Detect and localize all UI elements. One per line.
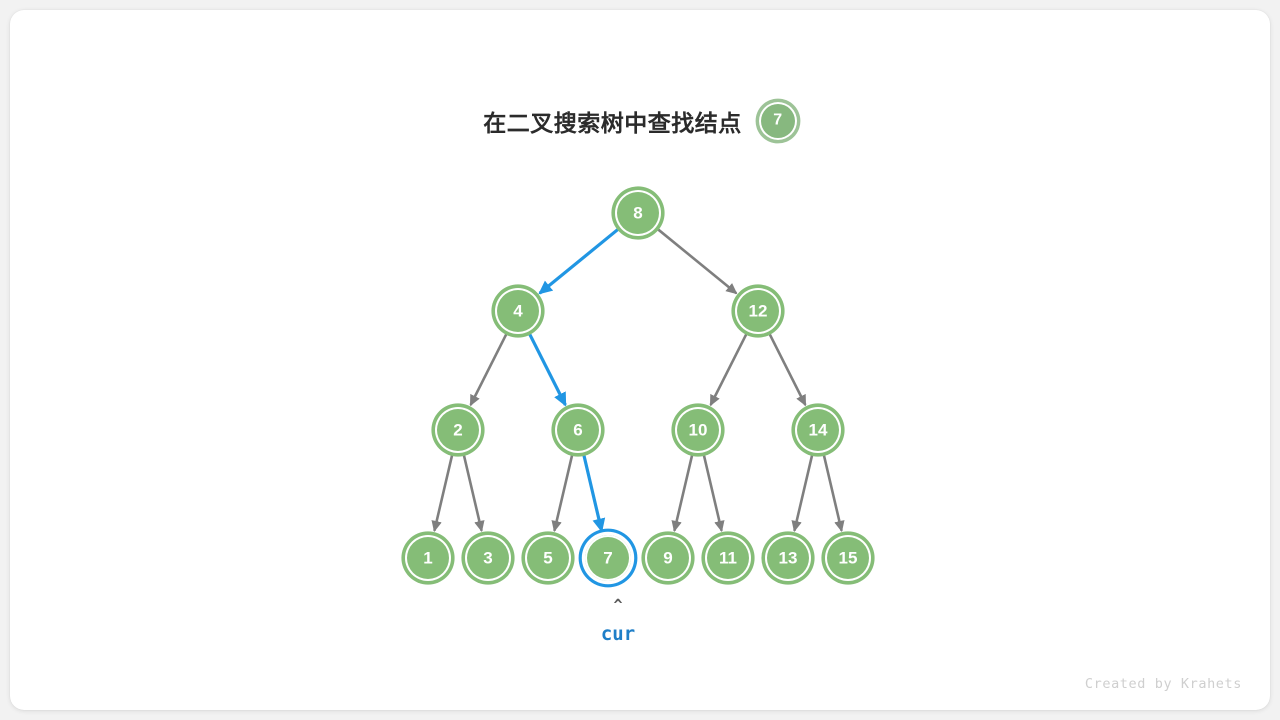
tree-node-2[interactable]: 2	[435, 407, 481, 453]
tree-node-label: 11	[719, 549, 737, 566]
tree-node-label: 10	[689, 421, 708, 438]
tree-node-3[interactable]: 3	[465, 535, 511, 581]
tree-node-label: 5	[543, 549, 552, 566]
tree-edge	[824, 454, 842, 530]
tree-node-13[interactable]: 13	[765, 535, 811, 581]
tree-edge	[704, 454, 722, 530]
tree-edge	[434, 454, 452, 530]
tree-node-5[interactable]: 5	[525, 535, 571, 581]
tree-edge	[769, 333, 805, 405]
tree-node-10[interactable]: 10	[675, 407, 721, 453]
tree-node-label: 12	[749, 302, 768, 319]
tree-node-label: 2	[453, 421, 462, 438]
cur-pointer-label: cur	[573, 625, 663, 644]
tree-edge-layer	[10, 10, 1270, 710]
tree-node-label: 7	[603, 549, 612, 566]
tree-node-label: 3	[483, 549, 492, 566]
tree-node-label: 13	[779, 549, 798, 566]
tree-node-label: 8	[633, 204, 642, 221]
tree-node-15[interactable]: 15	[825, 535, 871, 581]
tree-node-9[interactable]: 9	[645, 535, 691, 581]
tree-node-label: 14	[809, 421, 828, 438]
tree-edge	[464, 454, 482, 530]
tree-node-7[interactable]: 7	[585, 535, 631, 581]
tree-edge	[711, 333, 747, 405]
diagram-stage: 在二叉搜索树中查找结点 7 841226101413579111315 ^ cu…	[10, 10, 1270, 710]
tree-edge	[584, 454, 602, 530]
tree-edge	[529, 333, 565, 405]
tree-edge	[540, 229, 619, 293]
tree-edge	[471, 333, 507, 405]
tree-node-1[interactable]: 1	[405, 535, 451, 581]
tree-node-label: 1	[423, 549, 432, 566]
tree-node-4[interactable]: 4	[495, 288, 541, 334]
tree-edge	[794, 454, 812, 530]
tree-edge	[674, 454, 692, 530]
slide-card: 在二叉搜索树中查找结点 7 841226101413579111315 ^ cu…	[10, 10, 1270, 710]
tree-node-14[interactable]: 14	[795, 407, 841, 453]
tree-node-6[interactable]: 6	[555, 407, 601, 453]
cur-caret-icon: ^	[598, 598, 638, 613]
tree-node-11[interactable]: 11	[705, 535, 751, 581]
tree-edge	[657, 229, 736, 293]
tree-edge	[554, 454, 572, 530]
tree-node-12[interactable]: 12	[735, 288, 781, 334]
tree-node-label: 6	[573, 421, 582, 438]
tree-node-8[interactable]: 8	[615, 190, 661, 236]
tree-node-label: 4	[513, 302, 522, 319]
footer-credit: Created by Krahets	[1085, 676, 1242, 692]
tree-node-label: 15	[839, 549, 858, 566]
tree-node-label: 9	[663, 549, 672, 566]
